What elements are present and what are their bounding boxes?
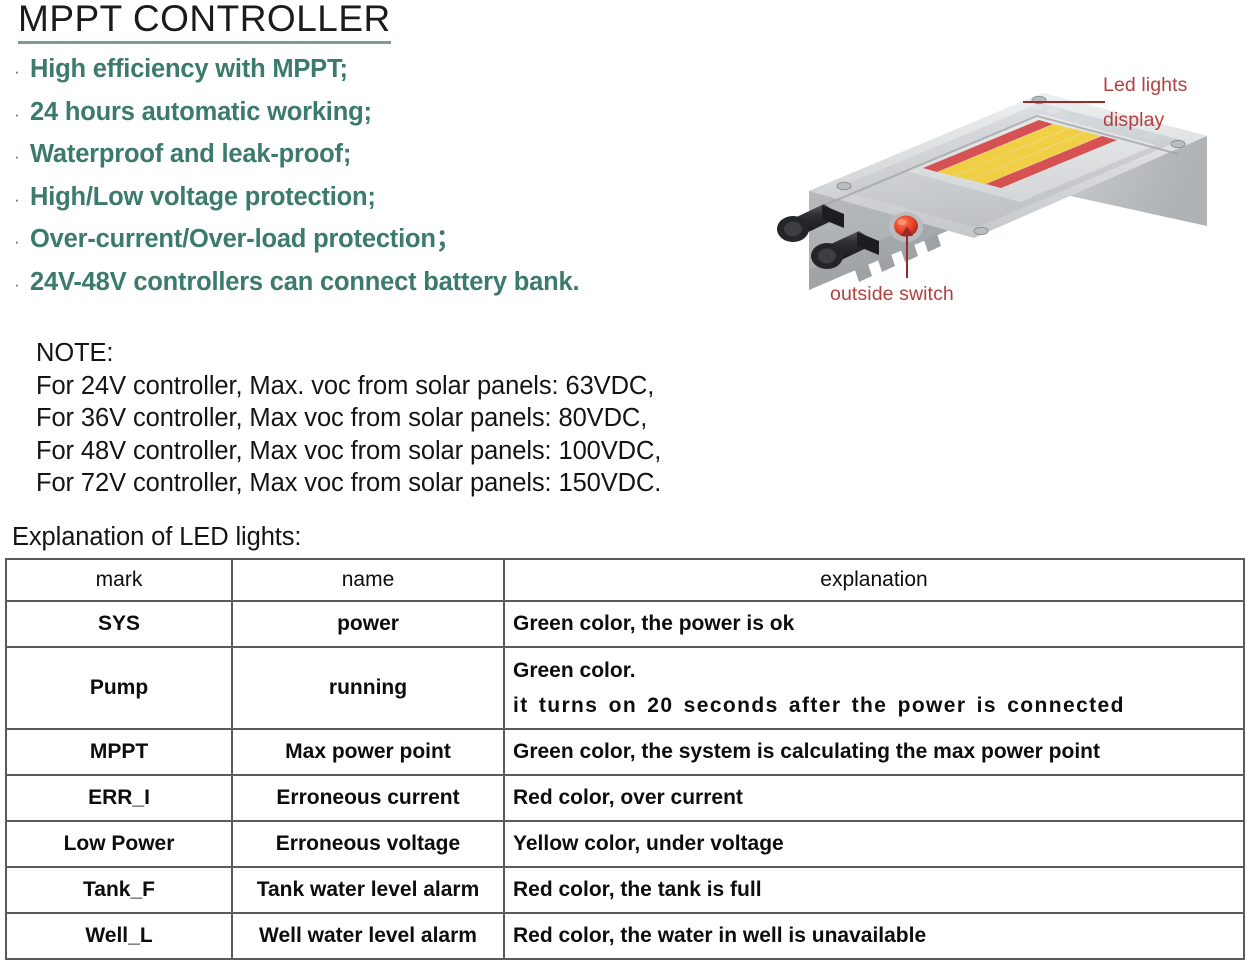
list-item: · Over-current/Over-load protection；	[14, 218, 714, 261]
cell-name: Well water level alarm	[232, 913, 504, 959]
note-block: NOTE: For 24V controller, Max. voc from …	[36, 337, 936, 500]
explanation-heading: Explanation of LED lights:	[12, 523, 301, 552]
cell-mark: SYS	[6, 601, 232, 647]
cell-explanation: Red color, the tank is full	[504, 867, 1244, 913]
bullet-icon: ·	[14, 221, 30, 264]
cell-mark: MPPT	[6, 729, 232, 775]
cell-explanation: Green color, the power is ok	[504, 601, 1244, 647]
feature-text: 24V-48V controllers can connect battery …	[30, 261, 579, 304]
cell-name: Erroneous current	[232, 775, 504, 821]
note-line: For 72V controller, Max voc from solar p…	[36, 467, 936, 500]
switch-callout-arrow-icon	[901, 226, 913, 236]
cell-explanation-line2: it turns on 20 seconds after the power i…	[513, 694, 1235, 718]
cell-mark: Pump	[6, 647, 232, 729]
cell-mark: ERR_I	[6, 775, 232, 821]
page-title: MPPT CONTROLLER	[18, 0, 391, 44]
column-header-explanation: explanation	[504, 559, 1244, 601]
cell-explanation: Yellow color, under voltage	[504, 821, 1244, 867]
callout-outside-switch: outside switch	[830, 283, 954, 306]
led-explanation-table: mark name explanation SYS power Green co…	[5, 558, 1245, 960]
note-line: For 36V controller, Max voc from solar p…	[36, 402, 936, 435]
feature-text: Over-current/Over-load protection；	[30, 218, 461, 261]
cell-name: power	[232, 601, 504, 647]
feature-text: High efficiency with MPPT;	[30, 48, 348, 91]
list-item: · 24V-48V controllers can connect batter…	[14, 261, 714, 304]
table-row: ERR_I Erroneous current Red color, over …	[6, 775, 1244, 821]
column-header-mark: mark	[6, 559, 232, 601]
bullet-icon: ·	[14, 94, 30, 137]
bullet-icon: ·	[14, 51, 30, 94]
led-callout-leader-line	[1023, 101, 1105, 103]
cell-explanation: Red color, the water in well is unavaila…	[504, 913, 1244, 959]
callout-led-lights-line2: display	[1103, 109, 1164, 132]
feature-list: · High efficiency with MPPT; · 24 hours …	[14, 48, 714, 303]
bullet-icon: ·	[14, 264, 30, 307]
note-line: For 48V controller, Max voc from solar p…	[36, 435, 936, 468]
list-item: · 24 hours automatic working;	[14, 91, 714, 134]
cell-name: Erroneous voltage	[232, 821, 504, 867]
table-row: Pump running Green color. it turns on 20…	[6, 647, 1244, 729]
cell-mark: Well_L	[6, 913, 232, 959]
cell-mark: Tank_F	[6, 867, 232, 913]
feature-text: 24 hours automatic working;	[30, 91, 372, 134]
cell-name: running	[232, 647, 504, 729]
cell-explanation: Green color. it turns on 20 seconds afte…	[504, 647, 1244, 729]
cell-name: Tank water level alarm	[232, 867, 504, 913]
list-item: · Waterproof and leak-proof;	[14, 133, 714, 176]
cell-mark: Low Power	[6, 821, 232, 867]
callout-led-lights-line1: Led lights	[1103, 74, 1187, 97]
cell-explanation: Red color, over current	[504, 775, 1244, 821]
feature-text: High/Low voltage protection;	[30, 176, 376, 219]
table-row: MPPT Max power point Green color, the sy…	[6, 729, 1244, 775]
table-row: Tank_F Tank water level alarm Red color,…	[6, 867, 1244, 913]
table-row: Low Power Erroneous voltage Yellow color…	[6, 821, 1244, 867]
table-row: Well_L Well water level alarm Red color,…	[6, 913, 1244, 959]
feature-text: Waterproof and leak-proof;	[30, 133, 351, 176]
switch-callout-leader-line	[906, 232, 908, 278]
list-item: · High efficiency with MPPT;	[14, 48, 714, 91]
note-heading: NOTE:	[36, 337, 936, 370]
column-header-name: name	[232, 559, 504, 601]
cell-explanation: Green color, the system is calculating t…	[504, 729, 1244, 775]
list-item: · High/Low voltage protection;	[14, 176, 714, 219]
cell-explanation-line1: Green color.	[513, 659, 1235, 683]
bullet-icon: ·	[14, 179, 30, 222]
table-header-row: mark name explanation	[6, 559, 1244, 601]
note-line: For 24V controller, Max. voc from solar …	[36, 370, 936, 403]
bullet-icon: ·	[14, 136, 30, 179]
cell-name: Max power point	[232, 729, 504, 775]
table-row: SYS power Green color, the power is ok	[6, 601, 1244, 647]
